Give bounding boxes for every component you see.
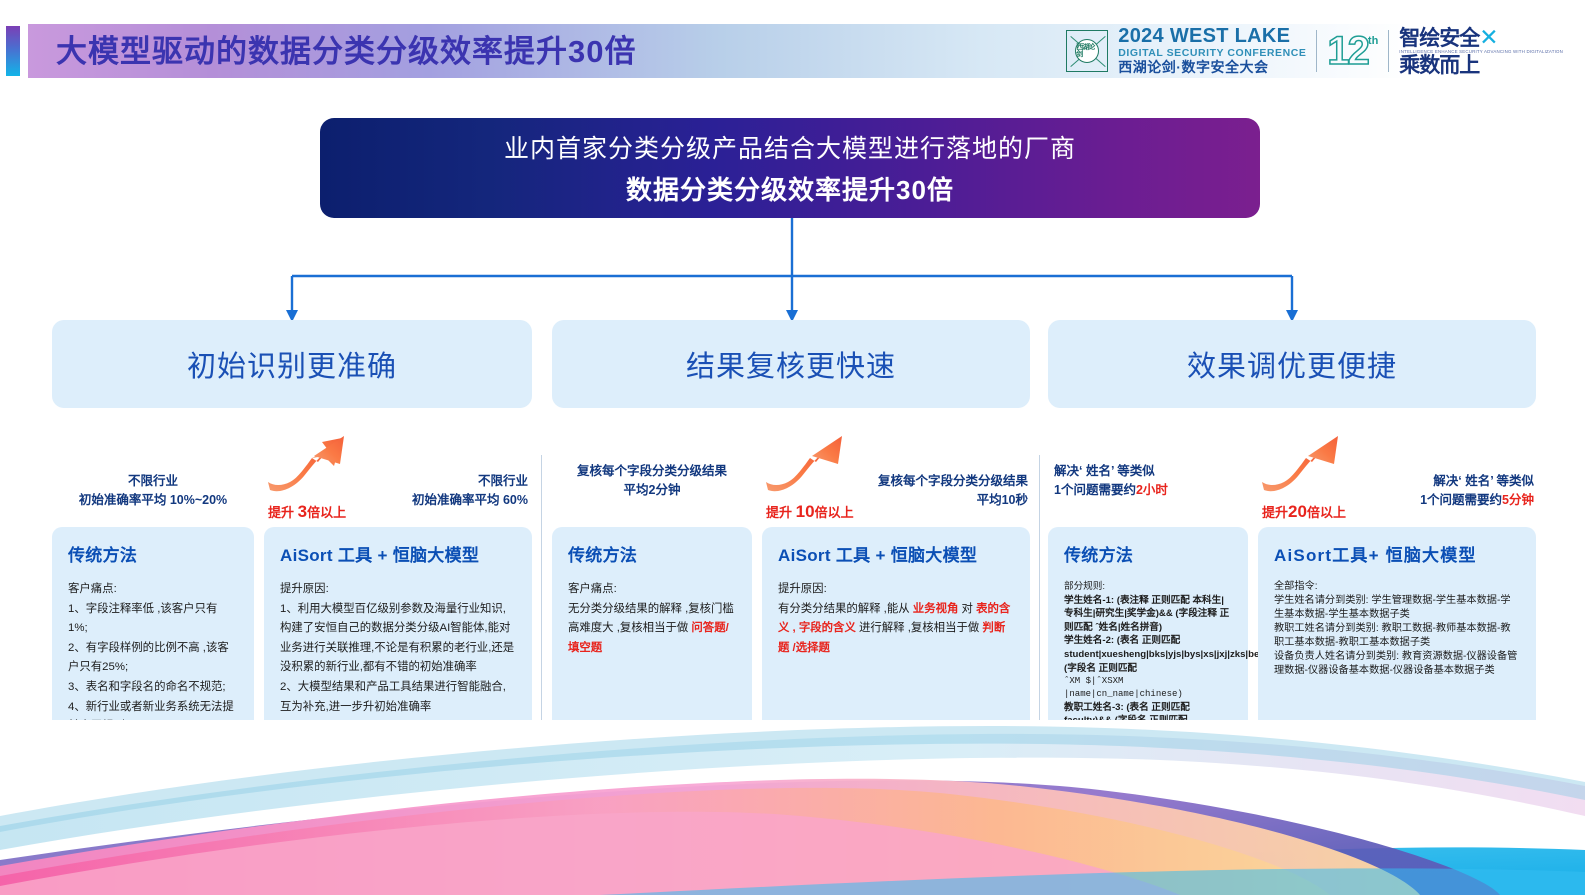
card-body-g1-left: 客户痛点: 1、字段注释率低 ,该客户只有 1%; 2、有字段样例的比例不高 ,… [68,580,238,737]
header-accent-bar [6,26,20,76]
section-header-tuning[interactable]: 效果调优更便捷 [1048,320,1536,408]
card-title-g1-right: AiSort 工具 + 恒脑大模型 [280,541,516,566]
caption-g2-right: 复核每个字段分类分级结果 平均10秒 [762,472,1030,510]
caption-g3-right-line1: 解决‘ 姓名’ 等类似 [1258,472,1534,491]
caption-g1-right: 不限行业 初始准确率平均 60% [264,472,532,510]
body-line: 学生姓名-1: (表注释 正则匹配 本科生|专科生|研究生|奖学金)&& (字段… [1064,594,1232,635]
card-body-g1-right: 提升原因: 1、利用大模型百亿级别参数及海量行业知识,构建了安恒自己的数据分类分… [280,580,516,717]
slogan-logo: 智绘安全✕ INTELLIGENCE ENHANCE SECURITY ADVA… [1399,26,1563,76]
body-text-g2-right: 有分类分结果的解释 ,能从 业务视角 对 表的含义 , 字段的含义 进行解释 ,… [778,600,1014,659]
body-heading-g2-right: 提升原因: [778,580,1014,600]
caption-g3-left: 解决‘ 姓名’ 等类似 1个问题需要约2小时 [1048,462,1248,500]
page-title: 大模型驱动的数据分类分级效率提升30倍 [56,30,636,74]
body-line: 2、有字段样例的比例不高 ,该客户只有25%; [68,639,238,678]
card-title-g3-left: 传统方法 [1064,541,1232,566]
body-seg1: 有分类分结果的解释 ,能从 [778,603,913,615]
hero-banner: 业内首家分类分级产品结合大模型进行落地的厂商 数据分类分级效率提升30倍 [320,118,1260,218]
caption-g1-left: 不限行业 初始准确率平均 10%~20% [52,472,254,510]
logo-group: 西湖论剑 2024 WEST LAKE DIGITAL SECURITY CON… [1066,25,1563,77]
body-heading-g1-left: 客户痛点: [68,580,238,600]
logo-divider-1 [1316,30,1317,72]
caption-g2-right-line1: 复核每个字段分类分级结果 [762,472,1028,491]
card-title-g2-right: AiSort 工具 + 恒脑大模型 [778,541,1014,566]
body-heading-g3-left: 部分规则: [1064,580,1232,594]
caption-g3-right-line2-highlight: 5分钟 [1502,493,1534,507]
caption-g1-right-line2: 初始准确率平均 60% [264,491,528,510]
body-line: 学生姓名请分到类别: 学生管理数据-学生基本数据-学生基本数据-学生基本数据子类 [1274,594,1520,622]
body-line: 学生姓名-2: (表名 正则匹配 student|xuesheng|bks|yj… [1064,634,1232,675]
caption-g3-right-line2a: 1个问题需要约 [1420,493,1502,507]
conference-logo-text: 2024 WEST LAKE DIGITAL SECURITY CONFEREN… [1118,26,1306,75]
body-seg2: 业务视角 [913,603,959,615]
body-line: ˆXM $|ˆXSXM |name|cn_name|chinese) [1064,675,1232,701]
caption-g3-left-line2-highlight: 2小时 [1136,483,1168,497]
slogan-line1-text: 智绘安全 [1399,27,1479,50]
body-line: 1、利用大模型百亿级别参数及海量行业知识,构建了安恒自己的数据分类分级AI智能体… [280,600,516,678]
card-title-g3-right: AiSort工具+ 恒脑大模型 [1274,541,1520,566]
body-heading-g2-left: 客户痛点: [568,580,736,600]
caption-g3-left-line1: 解决‘ 姓名’ 等类似 [1054,462,1248,481]
body-line: 教职工姓名请分到类别: 教职工数据-教师基本数据-教职工基本数据-教职工基本数据… [1274,622,1520,650]
caption-g3-left-line2: 1个问题需要约2小时 [1054,481,1248,500]
body-heading-g3-right: 全部指令: [1274,580,1520,594]
logo-divider-2 [1388,30,1389,72]
caption-g1-left-line2: 初始准确率平均 10%~20% [52,491,254,510]
body-line: 2、大模型结果和产品工具结果进行智能融合,互为补充,进一步升初始准确率 [280,678,516,717]
hero-line-1: 业内首家分类分级产品结合大模型进行落地的厂商 [504,129,1076,165]
caption-g3-left-line2a: 1个问题需要约 [1054,483,1136,497]
body-heading-g1-right: 提升原因: [280,580,516,600]
slide-header: 大模型驱动的数据分类分级效率提升30倍 西湖论剑 2024 WEST LAKE … [0,0,1585,100]
edition-number: 12 [1327,33,1368,69]
edition-suffix: th [1368,35,1378,47]
body-text-g2-left: 无分类分级结果的解释 ,复核门槛高难度大 ,复核相当于做 问答题/填空题 [568,600,736,659]
conference-chinese-name: 西湖论剑·数字安全大会 [1118,59,1306,75]
card-title-g1-left: 传统方法 [68,541,238,566]
slogan-line-2: 乘数而上 [1399,55,1563,76]
caption-g1-left-line1: 不限行业 [52,472,254,491]
connector-lines [0,210,1585,330]
card-body-g2-left: 客户痛点: 无分类分级结果的解释 ,复核门槛高难度大 ,复核相当于做 问答题/填… [568,580,736,658]
body-line: 设备负责人姓名请分到类别: 教育资源数据-仪器设备管理数据-仪器设备基本数据-仪… [1274,650,1520,678]
caption-g3-right-line2: 1个问题需要约5分钟 [1258,491,1534,510]
conference-year-name: 2024 WEST LAKE [1118,26,1306,47]
body-line: 3、表名和字段名的命名不规范; [68,678,238,698]
hero-line-2: 数据分类分级效率提升30倍 [626,170,954,207]
card-body-g2-right: 提升原因: 有分类分结果的解释 ,能从 业务视角 对 表的含义 , 字段的含义 … [778,580,1014,658]
card-title-g2-left: 传统方法 [568,541,736,566]
body-seg5: 进行解释 ,复核相当于做 [856,622,983,634]
seal-ring-text: 西湖论剑 [1075,39,1099,63]
slogan-line-1: 智绘安全✕ [1399,26,1563,49]
edition-badge: 12 th [1327,33,1378,69]
section-header-initial-recognition[interactable]: 初始识别更准确 [52,320,532,408]
body-seg3: 对 [958,603,976,615]
caption-g2-right-line2: 平均10秒 [762,491,1028,510]
card-body-g3-right: 全部指令: 学生姓名请分到类别: 学生管理数据-学生基本数据-学生基本数据-学生… [1274,580,1520,679]
caption-g2-left-line1: 复核每个字段分类分级结果 [552,462,752,481]
conference-subtitle: DIGITAL SECURITY CONFERENCE [1118,47,1306,59]
caption-g2-left-line2: 平均2分钟 [552,481,752,500]
caption-g1-right-line1: 不限行业 [264,472,528,491]
caption-g2-left: 复核每个字段分类分级结果 平均2分钟 [552,462,752,500]
section-header-result-review[interactable]: 结果复核更快速 [552,320,1030,408]
bottom-decoration [0,720,1585,895]
caption-g3-right: 解决‘ 姓名’ 等类似 1个问题需要约5分钟 [1258,472,1536,510]
slogan-x-icon: ✕ [1479,24,1497,50]
west-lake-seal-icon: 西湖论剑 [1066,30,1108,72]
slide-root: 大模型驱动的数据分类分级效率提升30倍 西湖论剑 2024 WEST LAKE … [0,0,1585,895]
body-line: 1、字段注释率低 ,该客户只有 1%; [68,600,238,639]
